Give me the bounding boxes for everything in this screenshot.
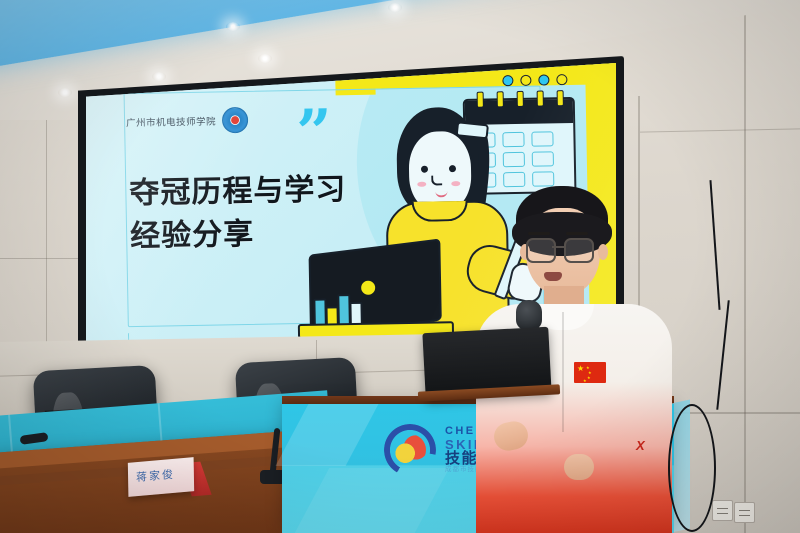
calendar-ring	[497, 91, 504, 107]
calendar-ring	[557, 90, 564, 106]
slide-dot-yellow-1	[520, 75, 531, 86]
speaker-brow-left	[528, 232, 550, 235]
slide-dot-cyan-1	[502, 75, 513, 86]
calendar-cell	[502, 132, 524, 147]
calendar-cell	[503, 172, 525, 187]
screenshot-root: 广州市机电技师学院 夺冠历程与学习 经验分享 分享人：蒋家俊 ”	[0, 0, 800, 533]
slide-dot-cyan-2	[538, 74, 549, 85]
glasses-icon	[526, 238, 556, 263]
illustration-blush-left	[417, 182, 426, 187]
downlight	[58, 88, 72, 97]
slide-dot-yellow-2	[556, 74, 567, 85]
downlight	[226, 22, 240, 31]
school-branding: 广州市机电技师学院	[126, 107, 248, 135]
illustration-mouth	[435, 191, 447, 197]
flag-star: ★	[583, 377, 587, 385]
school-crest-icon	[222, 107, 248, 133]
calendar-cell	[503, 152, 525, 167]
power-cable-loop	[668, 404, 716, 532]
flag-star: ★	[577, 365, 584, 373]
wall-seam-left-vertical	[46, 120, 47, 350]
wall-outlet-right[interactable]	[734, 502, 755, 523]
calendar-cell	[531, 131, 553, 146]
glasses-bridge	[552, 246, 564, 248]
microphone-head-icon	[516, 300, 542, 330]
slide-dot-row	[502, 74, 567, 86]
school-name: 广州市机电技师学院	[126, 114, 216, 130]
flag-star: ★	[587, 374, 591, 382]
downlight	[388, 3, 402, 12]
speaker-brow-right	[566, 232, 588, 235]
podium-diagonal-stripe	[276, 404, 379, 466]
calendar-ring	[537, 91, 544, 107]
speaker-ear-right	[598, 244, 608, 260]
calendar-cell	[532, 171, 554, 186]
glasses-icon	[564, 238, 594, 263]
chengdu-skills-inner-icon	[394, 434, 426, 466]
downlight	[258, 54, 272, 63]
illustration-eye-left	[421, 166, 428, 173]
speaker-jacket-zip	[562, 312, 564, 432]
wall-seam-left-low	[0, 258, 80, 259]
illustration-eye-right	[449, 165, 456, 172]
speaker-mouth	[544, 272, 562, 281]
name-placard: 蒋家俊	[128, 457, 194, 497]
quote-mark-icon: ”	[296, 113, 332, 151]
jacket-brand-logo: X	[636, 438, 645, 453]
name-placard-text: 蒋家俊	[136, 466, 175, 485]
calendar-cell	[532, 151, 554, 166]
calendar-ring	[477, 92, 484, 108]
chinese-flag-patch-icon: ★ ★ ★ ★ ★	[574, 362, 606, 383]
calendar-ring	[517, 91, 524, 107]
podium-diagonal-stripe	[295, 468, 450, 533]
illustration-blush-right	[451, 181, 460, 186]
speaker-hand-right	[564, 454, 594, 480]
illustration-nose	[431, 175, 442, 185]
downlight	[152, 72, 166, 81]
wall-outlet-left[interactable]	[712, 500, 733, 521]
